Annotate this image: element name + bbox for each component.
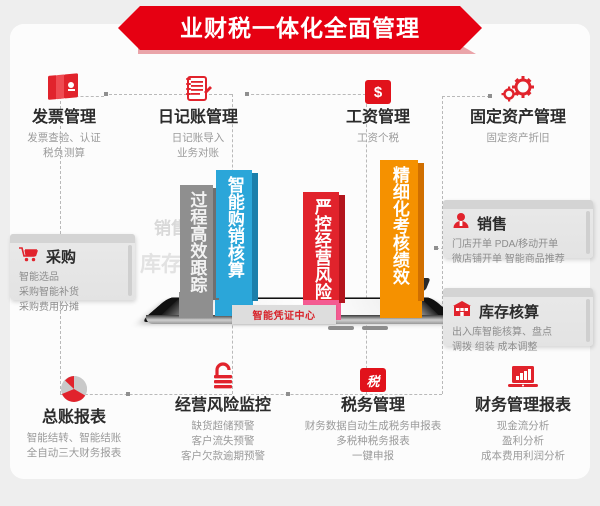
node-line: 税负测算 bbox=[6, 146, 122, 161]
node-invoice-management[interactable]: 发票管理 发票查验、认证 税负测算 bbox=[6, 70, 122, 161]
panel-line: 门店开单 PDA/移动开单 bbox=[452, 237, 584, 252]
pillar-side bbox=[252, 173, 258, 301]
title-banner: 业财税一体化全面管理 bbox=[118, 6, 482, 50]
warehouse-icon bbox=[452, 300, 472, 322]
node-line: 发票查验、认证 bbox=[6, 131, 122, 146]
laptop-chart-icon bbox=[448, 358, 598, 392]
node-line: 全自动三大财务报表 bbox=[2, 446, 146, 461]
node-line: 客户欠款逾期预警 bbox=[148, 449, 298, 464]
panel-inventory[interactable]: 库存核算 出入库智能核算、盘点 调拨 组装 成本调整 bbox=[443, 288, 593, 346]
shopping-cart-icon bbox=[19, 247, 39, 267]
panel-purchasing[interactable]: 采购 智能选品 采购智能补货 采购费用分摊 bbox=[10, 234, 135, 300]
panel-line: 采购费用分摊 bbox=[19, 300, 126, 315]
panel-content: 采购 智能选品 采购智能补货 采购费用分摊 bbox=[10, 234, 135, 322]
panel-line: 调拨 组装 成本调整 bbox=[452, 340, 584, 355]
panel-line: 智能选品 bbox=[19, 270, 126, 285]
node-line: 日记账导入 bbox=[140, 131, 256, 146]
panel-sales[interactable]: 销售 门店开单 PDA/移动开单 微店铺开单 智能商品推荐 bbox=[443, 200, 593, 258]
panel-title: 库存核算 bbox=[479, 301, 539, 322]
pie-chart-icon bbox=[2, 370, 146, 404]
node-title: 发票管理 bbox=[6, 108, 122, 128]
pillar-face: 严控经营风险 bbox=[303, 192, 339, 300]
node-line: 工资个税 bbox=[320, 131, 436, 146]
panel-header: 库存核算 bbox=[452, 300, 584, 322]
node-title: 固定资产管理 bbox=[448, 108, 588, 128]
pillar-face: 智能购销核算 bbox=[216, 170, 252, 298]
phone-speaker bbox=[328, 326, 354, 330]
node-financial-report[interactable]: 财务管理报表 现金流分析 盈利分析 成本费用利润分析 bbox=[448, 358, 598, 465]
pillar-process-tracking: 过程高效跟踪 bbox=[180, 185, 213, 297]
pillar-label: 严控经营风险 bbox=[312, 198, 330, 300]
node-title: 总账报表 bbox=[2, 408, 146, 428]
node-title: 工资管理 bbox=[320, 108, 436, 128]
node-line: 固定资产折旧 bbox=[448, 131, 588, 146]
phone-speaker bbox=[362, 326, 388, 330]
pillar-smart-trade: 智能购销核算 bbox=[216, 170, 252, 298]
node-title: 经营风险监控 bbox=[148, 396, 298, 416]
node-line: 成本费用利润分析 bbox=[448, 449, 598, 464]
node-risk-monitoring[interactable]: 经营风险监控 缺货超储预警 客户流失预警 客户欠款逾期预警 bbox=[148, 358, 298, 465]
panel-content: 库存核算 出入库智能核算、盘点 调拨 组装 成本调整 bbox=[443, 288, 593, 362]
node-line: 盈利分析 bbox=[448, 434, 598, 449]
panel-line: 微店铺开单 智能商品推荐 bbox=[452, 252, 584, 267]
node-line: 缺货超储预警 bbox=[148, 419, 298, 434]
lock-icon bbox=[148, 358, 298, 392]
panel-title: 采购 bbox=[46, 246, 76, 267]
pillar-face: 精细化考核绩效 bbox=[380, 160, 418, 298]
panel-line: 出入库智能核算、盘点 bbox=[452, 325, 584, 340]
pillar-performance: 精细化考核绩效 bbox=[380, 160, 418, 298]
gears-icon bbox=[448, 70, 588, 104]
invoice-books-icon bbox=[6, 70, 122, 104]
node-line: 财务数据自动生成税务申报表 bbox=[288, 419, 458, 434]
node-line: 业务对账 bbox=[140, 146, 256, 161]
pillar-side bbox=[418, 163, 424, 301]
pillar-side bbox=[339, 195, 345, 303]
connector-dot bbox=[434, 246, 438, 250]
pillar-label: 过程高效跟踪 bbox=[188, 191, 206, 293]
sales-person-icon bbox=[452, 212, 470, 234]
node-title: 税务管理 bbox=[288, 396, 458, 416]
panel-header: 销售 bbox=[452, 212, 584, 234]
node-general-ledger-report[interactable]: 总账报表 智能结转、智能结账 全自动三大财务报表 bbox=[2, 370, 146, 461]
node-salary-management[interactable]: $ 工资管理 工资个税 bbox=[320, 70, 436, 146]
journal-notebook-icon bbox=[140, 70, 256, 104]
dollar-badge: $ bbox=[365, 80, 391, 104]
panel-line: 采购智能补货 bbox=[19, 285, 126, 300]
node-line: 一键申报 bbox=[288, 449, 458, 464]
page-title: 业财税一体化全面管理 bbox=[180, 17, 420, 40]
panel-content: 销售 门店开单 PDA/移动开单 微店铺开单 智能商品推荐 bbox=[443, 200, 593, 274]
tax-badge: 税 bbox=[360, 368, 386, 392]
node-line: 客户流失预警 bbox=[148, 434, 298, 449]
infographic-root: 业财税一体化全面管理 销售 库存 务 采购 过程高效跟踪 智能购销核算 严控经营… bbox=[0, 0, 600, 506]
pillar-face: 过程高效跟踪 bbox=[180, 185, 213, 297]
tax-badge-icon: 税 bbox=[288, 358, 458, 392]
pillar-label: 精细化考核绩效 bbox=[390, 166, 408, 285]
node-line: 现金流分析 bbox=[448, 419, 598, 434]
node-line: 多税种税务报表 bbox=[288, 434, 458, 449]
node-journal-management[interactable]: 日记账管理 日记账导入 业务对账 bbox=[140, 70, 256, 161]
panel-header: 采购 bbox=[19, 246, 126, 267]
node-tax-management[interactable]: 税 税务管理 财务数据自动生成税务申报表 多税种税务报表 一键申报 bbox=[288, 358, 458, 465]
dollar-badge-icon: $ bbox=[320, 70, 436, 104]
voucher-center-label: 智能凭证中心 bbox=[232, 305, 336, 324]
node-fixed-asset-management[interactable]: 固定资产管理 固定资产折旧 bbox=[448, 70, 588, 146]
node-line: 智能结转、智能结账 bbox=[2, 431, 146, 446]
pillar-risk-control: 严控经营风险 bbox=[303, 192, 339, 300]
pillar-label: 智能购销核算 bbox=[225, 176, 243, 278]
node-title: 财务管理报表 bbox=[448, 396, 598, 416]
voucher-center-text: 智能凭证中心 bbox=[253, 307, 316, 322]
node-title: 日记账管理 bbox=[140, 108, 256, 128]
panel-title: 销售 bbox=[477, 213, 507, 234]
